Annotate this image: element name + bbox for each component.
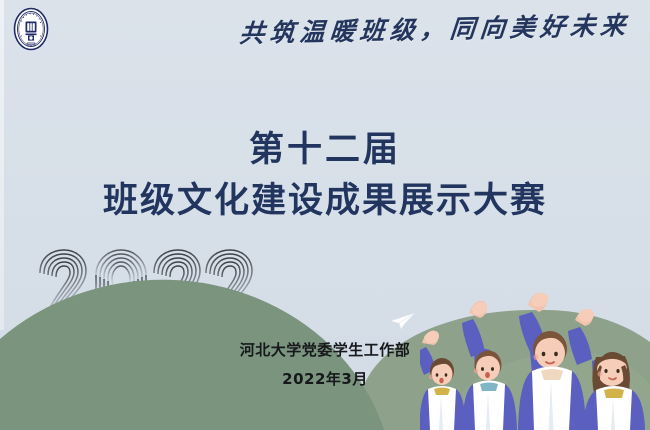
page-title-line1: 第十二届 bbox=[0, 128, 650, 173]
svg-text:1921: 1921 bbox=[28, 43, 35, 47]
hebei-university-seal-icon: 1921 bbox=[13, 7, 49, 51]
poster-title-block: 第十二届 班级文化建设成果展示大赛 bbox=[0, 128, 650, 224]
paper-plane-icon bbox=[389, 312, 417, 330]
students-illustration bbox=[420, 285, 650, 430]
page-title-line2: 班级文化建设成果展示大赛 bbox=[0, 179, 650, 225]
poster-canvas: 1921 共筑温暖班级，同向美好未来 第十二届 班级文化建设成果展示大赛 河北大… bbox=[0, 0, 650, 430]
